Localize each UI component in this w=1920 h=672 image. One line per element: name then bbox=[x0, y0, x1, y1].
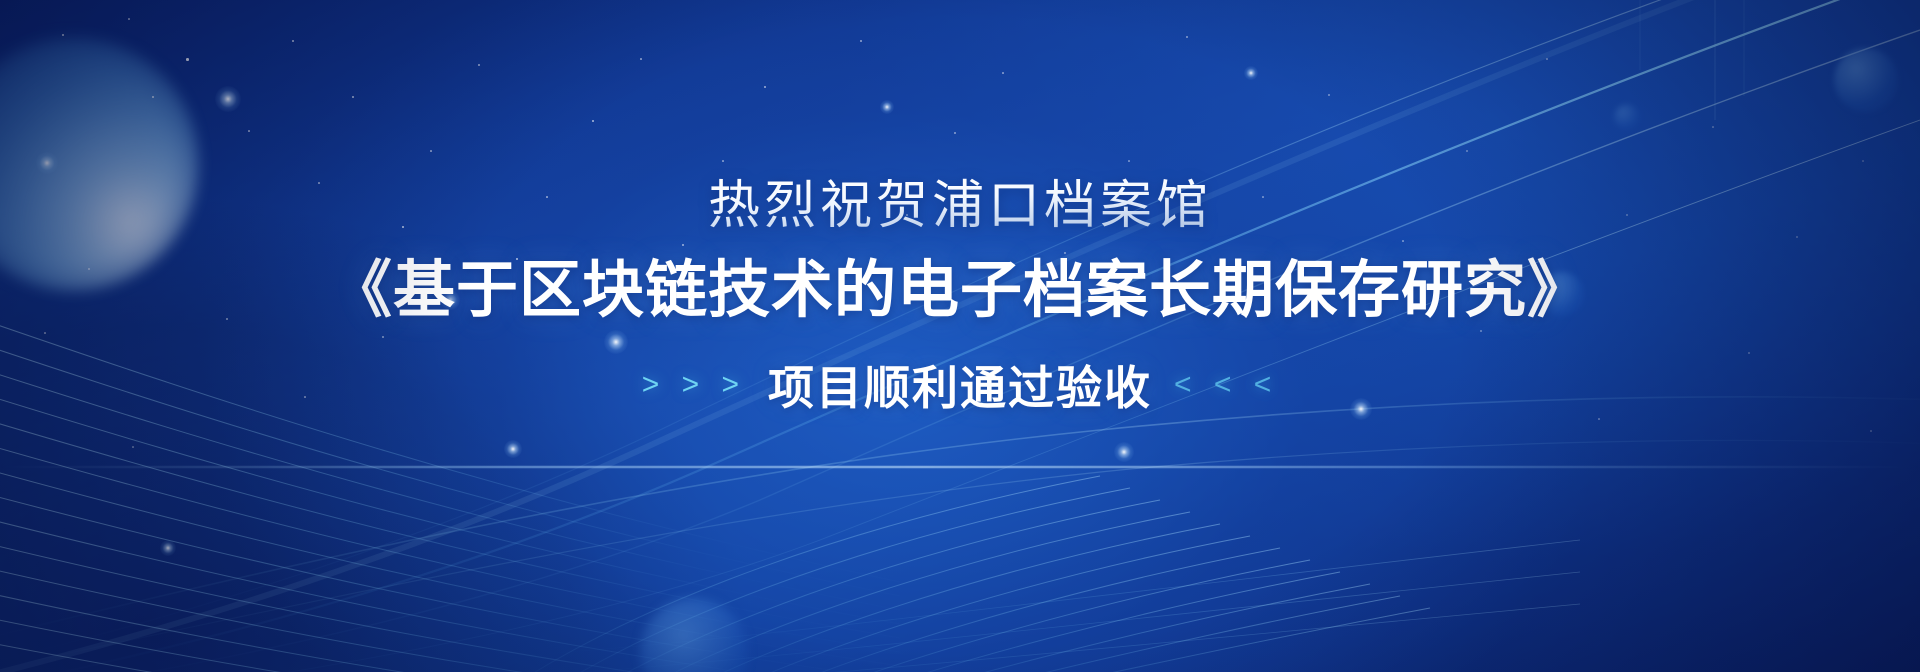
banner-subtitle: 项目顺利通过验收 bbox=[768, 352, 1152, 418]
banner-text-block: 热烈祝贺浦口档案馆 《基于区块链技术的电子档案长期保存研究》 > > > 项目顺… bbox=[0, 0, 1920, 672]
banner-title: 《基于区块链技术的电子档案长期保存研究》 bbox=[330, 255, 1590, 326]
banner-headline: 热烈祝贺浦口档案馆 bbox=[708, 178, 1212, 235]
banner-subtitle-row: > > > 项目顺利通过验收 < < < bbox=[642, 352, 1278, 418]
chevron-right-triple-icon: > > > bbox=[642, 368, 746, 402]
chevron-left-triple-icon: < < < bbox=[1174, 368, 1278, 402]
celebration-banner: 热烈祝贺浦口档案馆 《基于区块链技术的电子档案长期保存研究》 > > > 项目顺… bbox=[0, 0, 1920, 672]
